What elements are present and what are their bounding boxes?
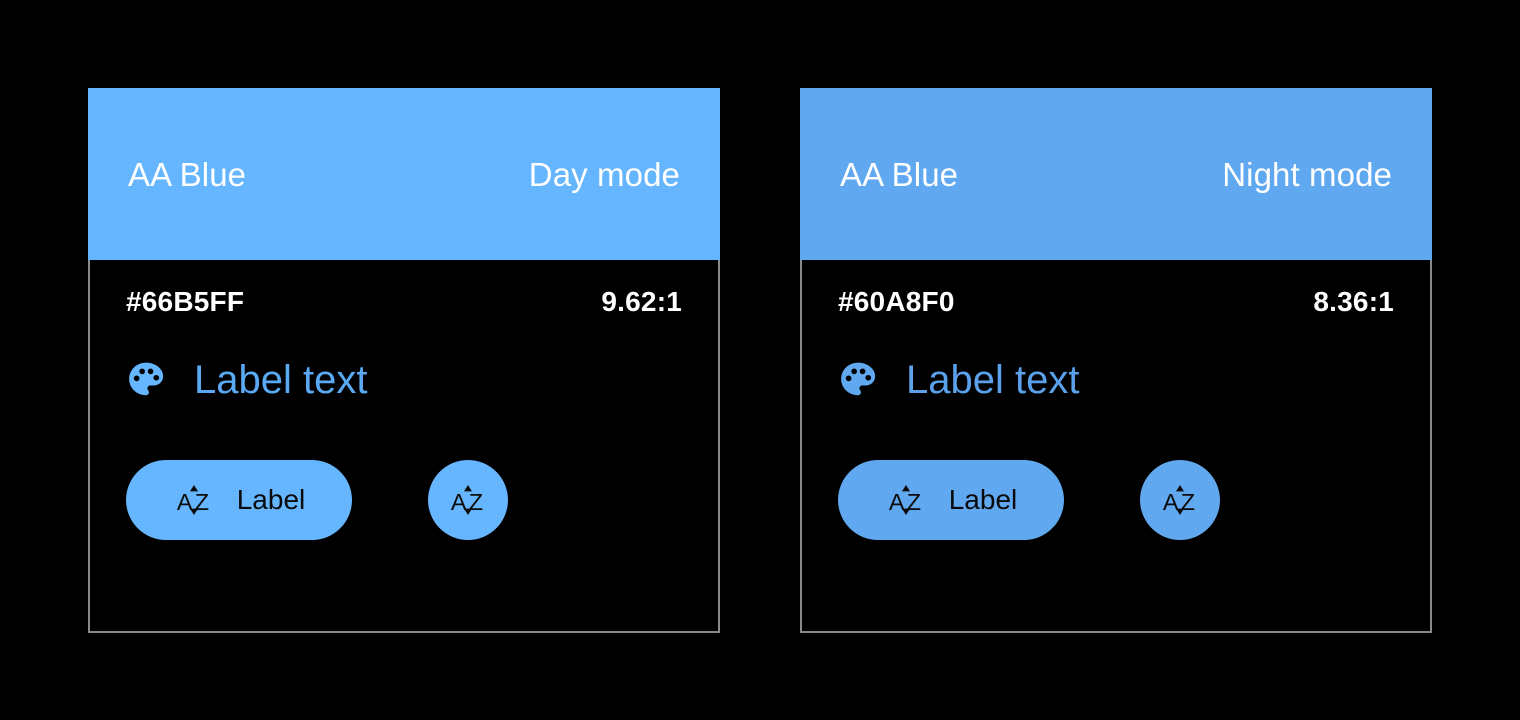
svg-text:A: A — [451, 489, 467, 515]
sort-alpha-icon: A Z — [447, 479, 489, 521]
theme-preview-card-night: AA Blue Night mode #60A8F0 8.36:1 — [800, 88, 1432, 633]
palette-icon — [124, 358, 168, 402]
sort-alpha-icon: A Z — [885, 479, 927, 521]
label-sample-row-day: Label text — [124, 358, 367, 402]
color-hex-value-day: #66B5FF — [126, 288, 244, 316]
theme-preview-card-day: AA Blue Day mode #66B5FF 9.62:1 — [88, 88, 720, 633]
palette-icon — [836, 358, 880, 402]
color-meta-row-night: #60A8F0 8.36:1 — [838, 288, 1394, 316]
sort-alpha-icon: A Z — [1159, 479, 1201, 521]
label-sample-row-night: Label text — [836, 358, 1079, 402]
color-hex-value-night: #60A8F0 — [838, 288, 955, 316]
sort-fab-button-day[interactable]: A Z — [428, 460, 508, 540]
card-title-day: AA Blue — [128, 158, 246, 191]
label-sample-text-day: Label text — [194, 360, 367, 400]
contrast-ratio-value-day: 9.62:1 — [601, 288, 682, 316]
svg-text:Z: Z — [469, 489, 483, 515]
svg-text:Z: Z — [194, 489, 208, 515]
card-title-night: AA Blue — [840, 158, 958, 191]
color-meta-row-day: #66B5FF 9.62:1 — [126, 288, 682, 316]
label-sample-text-night: Label text — [906, 360, 1079, 400]
preview-stage: AA Blue Day mode #66B5FF 9.62:1 — [0, 0, 1520, 720]
sort-pill-button-day[interactable]: A Z Label — [126, 460, 352, 540]
sort-pill-button-label-night: Label — [949, 486, 1018, 514]
card-header-day: AA Blue Day mode — [88, 88, 720, 260]
svg-text:A: A — [889, 489, 905, 515]
card-body-night: #60A8F0 8.36:1 Label text — [800, 260, 1432, 633]
contrast-ratio-value-night: 8.36:1 — [1313, 288, 1394, 316]
card-body-day: #66B5FF 9.62:1 Label text — [88, 260, 720, 633]
card-mode-label-day: Day mode — [529, 158, 680, 191]
button-row-night: A Z Label A Z — [838, 460, 1220, 540]
svg-text:Z: Z — [1181, 489, 1195, 515]
sort-pill-button-night[interactable]: A Z Label — [838, 460, 1064, 540]
svg-text:A: A — [1163, 489, 1179, 515]
sort-fab-button-night[interactable]: A Z — [1140, 460, 1220, 540]
sort-alpha-icon: A Z — [173, 479, 215, 521]
svg-text:A: A — [177, 489, 193, 515]
card-mode-label-night: Night mode — [1222, 158, 1392, 191]
button-row-day: A Z Label A Z — [126, 460, 508, 540]
svg-text:Z: Z — [906, 489, 920, 515]
card-header-night: AA Blue Night mode — [800, 88, 1432, 260]
sort-pill-button-label-day: Label — [237, 486, 306, 514]
